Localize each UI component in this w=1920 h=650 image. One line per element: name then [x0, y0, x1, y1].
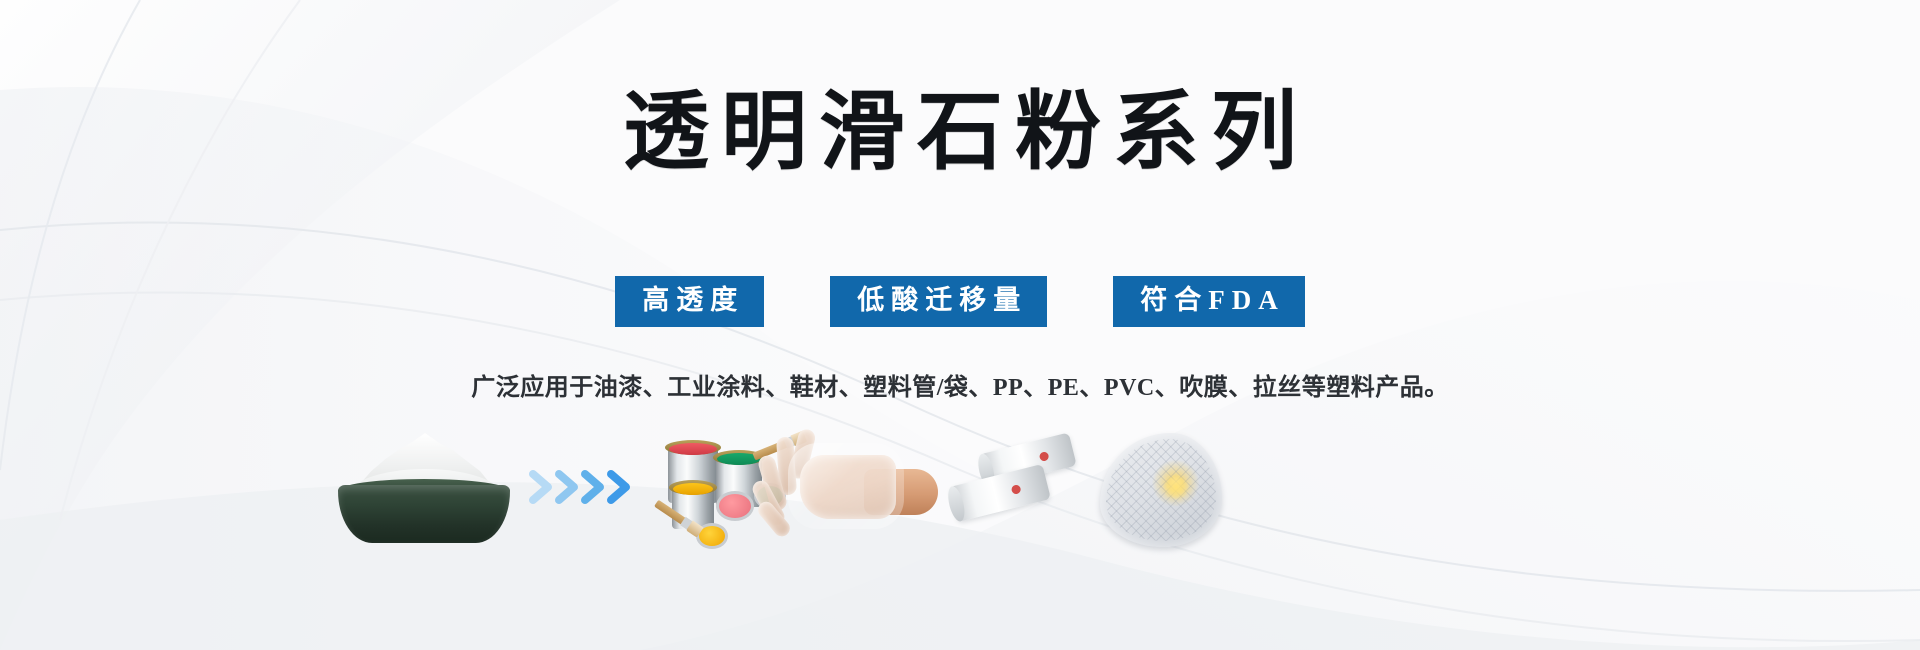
paint-can-yellow-surface: [673, 483, 713, 495]
feature-badge-low-acid-migration: 低酸迁移量: [830, 276, 1047, 327]
film-roll-red-mark: [1011, 484, 1022, 495]
talc-powder-bowl-image: [330, 431, 520, 549]
feature-badge-high-transparency: 高透度: [615, 276, 764, 327]
film-rolls-image: [942, 435, 1082, 547]
pigment-disc-pink: [716, 491, 754, 521]
film-roll-end-cap: [945, 485, 967, 523]
feature-badge-list: 高透度 低酸迁移量 符合FDA: [0, 276, 1920, 327]
glove-sheen: [788, 443, 904, 529]
feature-badge-fda-compliant: 符合FDA: [1113, 276, 1305, 327]
banner-title: 透明滑石粉系列: [0, 86, 1920, 179]
banner-description: 广泛应用于油漆、工业涂料、鞋材、塑料管/袋、PP、PE、PVC、吹膜、拉丝等塑料…: [0, 367, 1920, 402]
process-arrows-icon: [528, 465, 646, 509]
shoe-sole-image: [1100, 433, 1222, 547]
bowl-body: [338, 485, 510, 543]
application-image-strip: [330, 425, 1230, 555]
plastic-glove-image: [760, 421, 940, 553]
product-banner: 透明滑石粉系列 高透度 低酸迁移量 符合FDA 广泛应用于油漆、工业涂料、鞋材、…: [0, 0, 1920, 650]
film-roll-red-mark: [1039, 451, 1050, 462]
paint-can-red-surface: [669, 443, 717, 455]
